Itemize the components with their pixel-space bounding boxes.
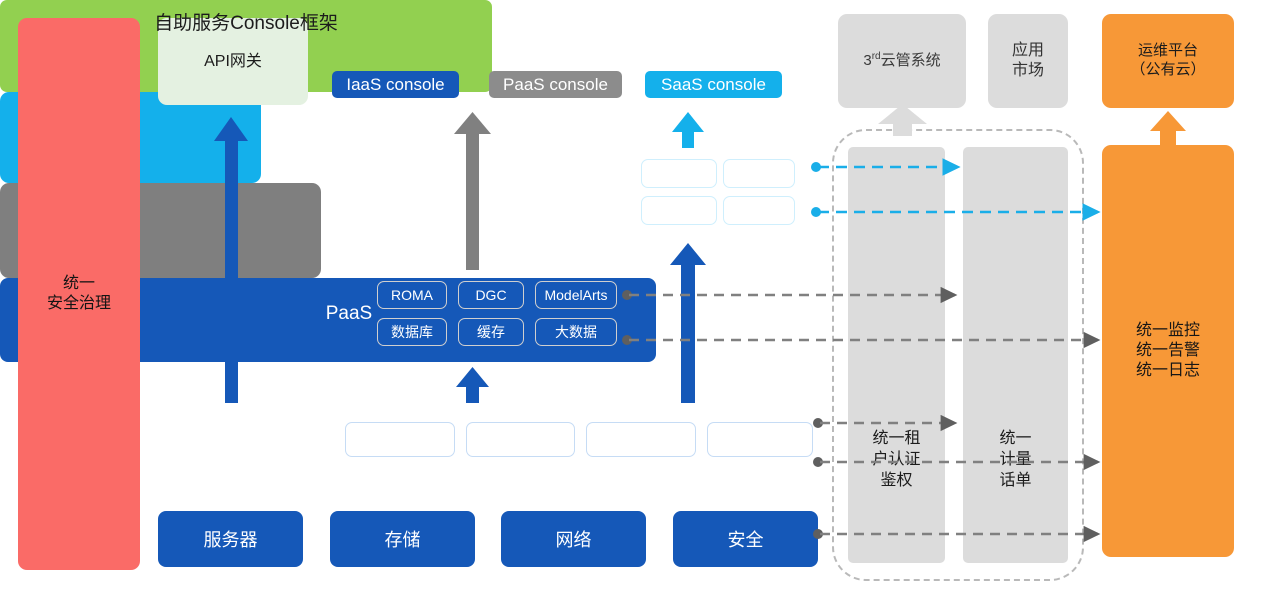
architecture-diagram-canvas: 统一 安全治理 API网关 自助服务Console框架 IaaS console… — [0, 0, 1265, 605]
saas-console-chip[interactable]: SaaS console — [645, 71, 782, 98]
iaas-chip-storage[interactable]: Storage — [466, 422, 575, 457]
paas-chip-bigdata[interactable]: 大数据 — [535, 318, 617, 346]
arrow-iaas-to-saas — [670, 243, 706, 403]
iaas-chip-cce-label: CCE — [741, 429, 779, 450]
auth-line1: 统一租 — [848, 428, 945, 449]
saas-chip-iot-label: IoT — [748, 165, 770, 182]
unified-metering-billing-pillar[interactable]: 统一 计量 话单 — [963, 147, 1068, 563]
auth-line3: 鉴权 — [848, 470, 945, 491]
unified-tenant-auth-pillar[interactable]: 统一租 户认证 鉴权 — [848, 147, 945, 563]
paas-chip-roma[interactable]: ROMA — [377, 281, 447, 309]
ops-log-line: 统一日志 — [1136, 361, 1200, 381]
console-frame-title: 自助服务Console框架 — [0, 8, 492, 35]
iaas-chip-storage-label: Storage — [489, 429, 552, 450]
app-market-line1: 应用 — [1012, 41, 1044, 61]
saas-chip-video-cloud[interactable]: 视频云 — [641, 196, 717, 225]
app-market-box[interactable]: 应用 市场 — [988, 14, 1068, 108]
iaas-chip-network[interactable]: Network — [586, 422, 696, 457]
paas-console-chip[interactable]: PaaS console — [489, 71, 622, 98]
arrow-saas-to-saas-console — [672, 112, 704, 148]
security-governance-panel[interactable]: 统一 安全治理 — [18, 18, 140, 570]
saas-chip-desktop-cloud-label: 桌面云 — [736, 200, 781, 221]
saas-console-label: SaaS console — [661, 75, 766, 95]
resource-box-storage[interactable]: 存储 — [330, 511, 475, 567]
ops-alarm-line: 统一告警 — [1136, 341, 1200, 361]
resource-box-server[interactable]: 服务器 — [158, 511, 303, 567]
ops-capabilities-label: 统一监控 统一告警 统一日志 — [1136, 321, 1200, 381]
paas-chip-cache-label: 缓存 — [477, 322, 505, 342]
api-gateway-label: API网关 — [204, 52, 262, 72]
arrow-iaas-to-paas — [456, 367, 489, 403]
paas-chip-dgc[interactable]: DGC — [458, 281, 524, 309]
paas-chip-cache[interactable]: 缓存 — [458, 318, 524, 346]
resource-box-security[interactable]: 安全 — [673, 511, 818, 567]
resource-box-network[interactable]: 网络 — [501, 511, 646, 567]
resource-box-network-label: 网络 — [556, 526, 592, 552]
unified-metering-billing-label: 统一 计量 话单 — [963, 428, 1068, 491]
saas-chip-desktop-cloud[interactable]: 桌面云 — [723, 196, 795, 225]
third-cloud-rest: 云管系统 — [881, 52, 941, 69]
iaas-chip-network-label: Network — [608, 429, 674, 450]
app-market-line2: 市场 — [1012, 61, 1044, 81]
paas-chip-modelarts[interactable]: ModelArts — [535, 281, 617, 309]
ops-platform-label: 运维平台 （公有云） — [1130, 42, 1205, 80]
security-governance-line2: 安全治理 — [47, 294, 111, 314]
iaas-console-label: IaaS console — [346, 75, 444, 95]
resource-box-server-label: 服务器 — [204, 526, 258, 552]
paas-chip-bigdata-label: 大数据 — [555, 322, 597, 342]
third-party-cloud-management-label: 3rd云管系统 — [863, 51, 940, 71]
ops-monitor-line: 统一监控 — [1136, 321, 1200, 341]
app-market-label: 应用 市场 — [1012, 41, 1044, 81]
paas-chip-modelarts-label: ModelArts — [544, 287, 607, 303]
paas-chip-dgc-label: DGC — [475, 287, 506, 303]
third-party-cloud-management-box[interactable]: 3rd云管系统 — [838, 14, 966, 108]
meter-line1: 统一 — [963, 428, 1068, 449]
security-governance-line1: 统一 — [47, 274, 111, 294]
saas-chip-iot[interactable]: IoT — [723, 159, 795, 188]
arrow-ops-column-to-ops-platform — [1150, 111, 1186, 146]
ops-capabilities-column[interactable]: 统一监控 统一告警 统一日志 — [1102, 145, 1234, 557]
saas-chip-blockchain[interactable]: 区块链 — [641, 159, 717, 188]
resource-box-security-label: 安全 — [728, 526, 764, 552]
unified-tenant-auth-label: 统一租 户认证 鉴权 — [848, 428, 945, 491]
paas-layer-label: PaaS — [313, 303, 385, 325]
security-governance-label: 统一 安全治理 — [47, 274, 111, 314]
meter-line2: 计量 — [963, 449, 1068, 470]
ops-platform-line1: 运维平台 — [1130, 42, 1205, 61]
saas-chip-blockchain-label: 区块链 — [656, 163, 701, 184]
iaas-chip-compute[interactable]: Compute — [345, 422, 455, 457]
paas-chip-database-label: 数据库 — [391, 322, 433, 342]
unified-infrastructure-label: 统一基础设施服务 — [170, 427, 340, 452]
iaas-chip-compute-label: Compute — [363, 429, 436, 450]
ops-platform-line2: （公有云） — [1130, 61, 1205, 80]
paas-chip-database[interactable]: 数据库 — [377, 318, 447, 346]
iaas-console-chip[interactable]: IaaS console — [332, 71, 459, 98]
third-cloud-prefix: 3 — [863, 52, 871, 69]
paas-console-label: PaaS console — [503, 75, 608, 95]
resource-box-storage-label: 存储 — [385, 526, 421, 552]
saas-layer-label: SaaS — [562, 179, 638, 201]
iaas-chip-cce[interactable]: CCE — [707, 422, 813, 457]
auth-line2: 户认证 — [848, 449, 945, 470]
arrow-paas-to-console — [454, 112, 491, 270]
meter-line3: 话单 — [963, 470, 1068, 491]
saas-chip-video-cloud-label: 视频云 — [656, 200, 701, 221]
paas-chip-roma-label: ROMA — [391, 287, 433, 303]
ops-platform-box[interactable]: 运维平台 （公有云） — [1102, 14, 1234, 108]
third-cloud-superscript: rd — [872, 51, 881, 62]
